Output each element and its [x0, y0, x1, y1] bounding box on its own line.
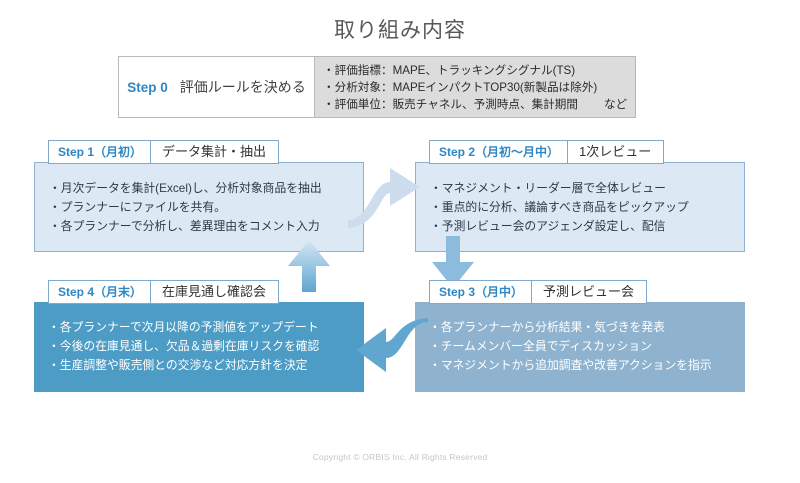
step3-header: Step 3（月中） 予測レビュー会: [429, 280, 647, 304]
step3-line: ・マネジメントから追加調査や改善アクションを指示: [429, 356, 745, 375]
step1-line: ・各プランナーで分析し、差異理由をコメント入力: [49, 217, 363, 236]
step4-line: ・各プランナーで次月以降の予測値をアップデート: [48, 318, 364, 337]
step0-detail-tail: など: [604, 98, 627, 111]
step3-line: ・チームメンバー全員でディスカッション: [429, 337, 745, 356]
footer-copyright: Copyright © ORBIS Inc. All Rights Reserv…: [0, 452, 800, 462]
step1-body: ・月次データを集計(Excel)し、分析対象商品を抽出 ・プランナーにファイルを…: [34, 162, 364, 252]
step2-line: ・予測レビュー会のアジェンダ設定し、配信: [430, 217, 744, 236]
step2-card: Step 2（月初～月中） 1次レビュー ・マネジメント・リーダー層で全体レビュ…: [415, 140, 745, 252]
step4-header: Step 4（月末） 在庫見通し確認会: [48, 280, 279, 304]
step1-name: データ集計・抽出: [151, 140, 279, 164]
step3-line: ・各プランナーから分析結果・気づきを発表: [429, 318, 745, 337]
step0-detail-line: ・評価単位：販売チャネル、予測時点、集計期間など: [323, 96, 635, 113]
step4-card: Step 4（月末） 在庫見通し確認会 ・各プランナーで次月以降の予測値をアップ…: [34, 280, 364, 392]
step2-body: ・マネジメント・リーダー層で全体レビュー ・重点的に分析、議論すべき商品をピック…: [415, 162, 745, 252]
step0-card: Step 0 評価ルールを決める ・評価指標：MAPE、トラッキングシグナル(T…: [118, 56, 636, 118]
step2-number: Step 2（月初～月中）: [429, 140, 568, 164]
step3-number: Step 3（月中）: [429, 280, 532, 304]
step1-header: Step 1（月初） データ集計・抽出: [48, 140, 279, 164]
step1-line: ・プランナーにファイルを共有。: [49, 198, 363, 217]
step2-header: Step 2（月初～月中） 1次レビュー: [429, 140, 664, 164]
step4-number: Step 4（月末）: [48, 280, 151, 304]
step0-name: 評価ルールを決める: [180, 77, 306, 97]
step1-number: Step 1（月初）: [48, 140, 151, 164]
slide-canvas: 取り組み内容 Step 0 評価ルールを決める ・評価指標：MAPE、トラッキン…: [0, 0, 800, 483]
step3-name: 予測レビュー会: [532, 280, 647, 304]
step0-label: Step 0 評価ルールを決める: [119, 57, 315, 117]
step1-line: ・月次データを集計(Excel)し、分析対象商品を抽出: [49, 179, 363, 198]
step4-name: 在庫見通し確認会: [151, 280, 279, 304]
step3-body: ・各プランナーから分析結果・気づきを発表 ・チームメンバー全員でディスカッション…: [415, 302, 745, 392]
step0-detail-line: ・評価指標：MAPE、トラッキングシグナル(TS): [323, 62, 635, 79]
page-title: 取り組み内容: [0, 14, 800, 44]
step4-body: ・各プランナーで次月以降の予測値をアップデート ・今後の在庫見通し、欠品＆過剰在…: [34, 302, 364, 392]
step4-line: ・生産調整や販売側との交渉など対応方針を決定: [48, 356, 364, 375]
step0-detail-line: ・分析対象：MAPEインパクトTOP30(新製品は除外): [323, 79, 635, 96]
step2-name: 1次レビュー: [568, 140, 664, 164]
step2-line: ・重点的に分析、議論すべき商品をピックアップ: [430, 198, 744, 217]
step1-card: Step 1（月初） データ集計・抽出 ・月次データを集計(Excel)し、分析…: [34, 140, 364, 252]
step3-card: Step 3（月中） 予測レビュー会 ・各プランナーから分析結果・気づきを発表 …: [415, 280, 745, 392]
step4-line: ・今後の在庫見通し、欠品＆過剰在庫リスクを確認: [48, 337, 364, 356]
step0-number: Step 0: [127, 80, 168, 95]
step0-detail-text: ・評価単位：販売チャネル、予測時点、集計期間: [323, 98, 578, 111]
step2-line: ・マネジメント・リーダー層で全体レビュー: [430, 179, 744, 198]
step0-detail-panel: ・評価指標：MAPE、トラッキングシグナル(TS) ・分析対象：MAPEインパク…: [315, 57, 635, 117]
